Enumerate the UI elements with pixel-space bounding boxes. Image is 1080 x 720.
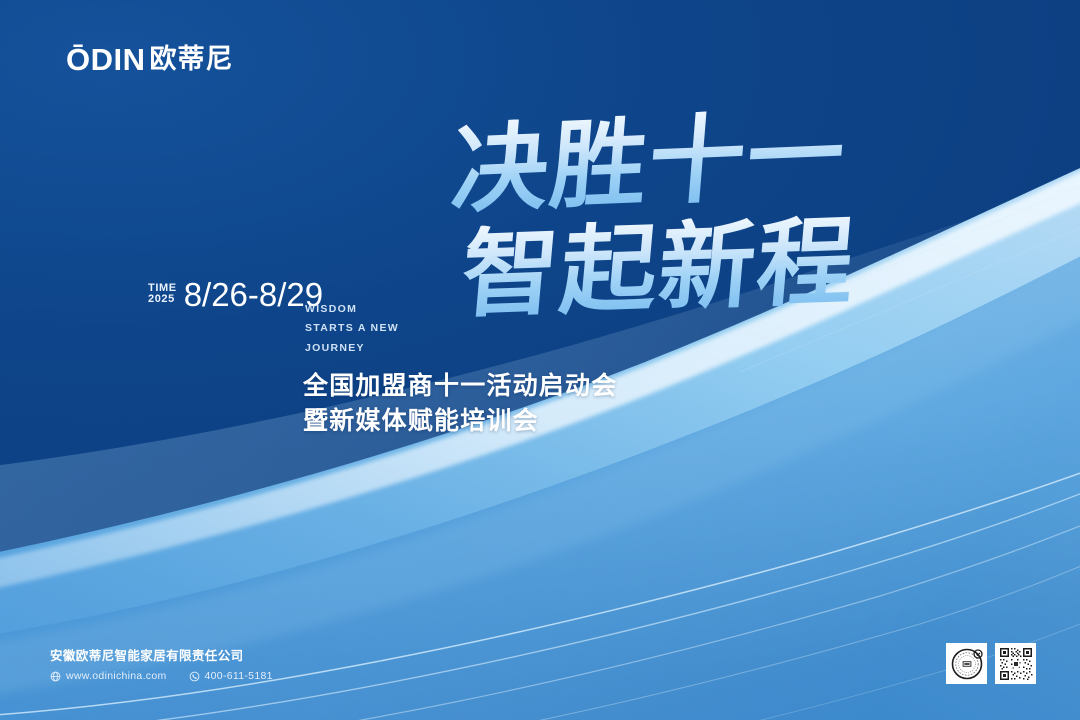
event-subtitle: 全国加盟商十一活动启动会 暨新媒体赋能培训会	[303, 369, 617, 438]
website-contact: www.odinichina.com	[50, 670, 167, 682]
event-date: TIME 2025 8/26-8/29	[148, 278, 323, 311]
qr-code-icon	[998, 646, 1034, 682]
hero-title-line-2: 智起新程	[458, 210, 938, 324]
event-subtitle-line-1: 全国加盟商十一活动启动会	[303, 369, 617, 404]
date-range: 8/26-8/29	[184, 278, 323, 311]
tagline-line-3: JOURNEY	[305, 339, 399, 358]
code-group	[946, 643, 1036, 684]
date-label: TIME 2025	[148, 283, 177, 311]
globe-icon	[50, 671, 61, 682]
brand-logo: ŌDIN 欧蒂尼	[66, 44, 234, 75]
event-subtitle-line-2: 暨新媒体赋能培训会	[303, 404, 617, 439]
footer-contacts: www.odinichina.com 400-611-5181	[50, 670, 273, 682]
phone-icon	[189, 671, 200, 682]
phone-contact: 400-611-5181	[189, 670, 273, 682]
english-tagline: WISDOM STARTS A NEW JOURNEY	[305, 300, 399, 358]
official-seal-code[interactable]	[946, 643, 987, 684]
brand-logo-chinese: 欧蒂尼	[150, 46, 234, 73]
tagline-line-1: WISDOM	[305, 300, 399, 319]
wechat-qr-code[interactable]	[995, 643, 1036, 684]
tagline-line-2: STARTS A NEW	[305, 319, 399, 338]
hero-title: 决胜十一 智起新程	[445, 112, 915, 342]
phone-text: 400-611-5181	[205, 670, 273, 682]
company-name: 安徽欧蒂尼智能家居有限责任公司	[50, 648, 273, 664]
hero-title-line-1: 决胜十一	[448, 102, 928, 220]
circular-stamp-icon	[949, 646, 985, 682]
event-poster: ŌDIN 欧蒂尼 决胜十一 智起新程 TIME 2025 8/26-8/29 W…	[0, 0, 1080, 720]
website-text: www.odinichina.com	[66, 670, 167, 682]
footer: 安徽欧蒂尼智能家居有限责任公司 www.odinichina.com	[50, 648, 273, 682]
date-label-year: 2025	[148, 294, 177, 306]
brand-logo-mark: ŌDIN	[66, 44, 146, 75]
